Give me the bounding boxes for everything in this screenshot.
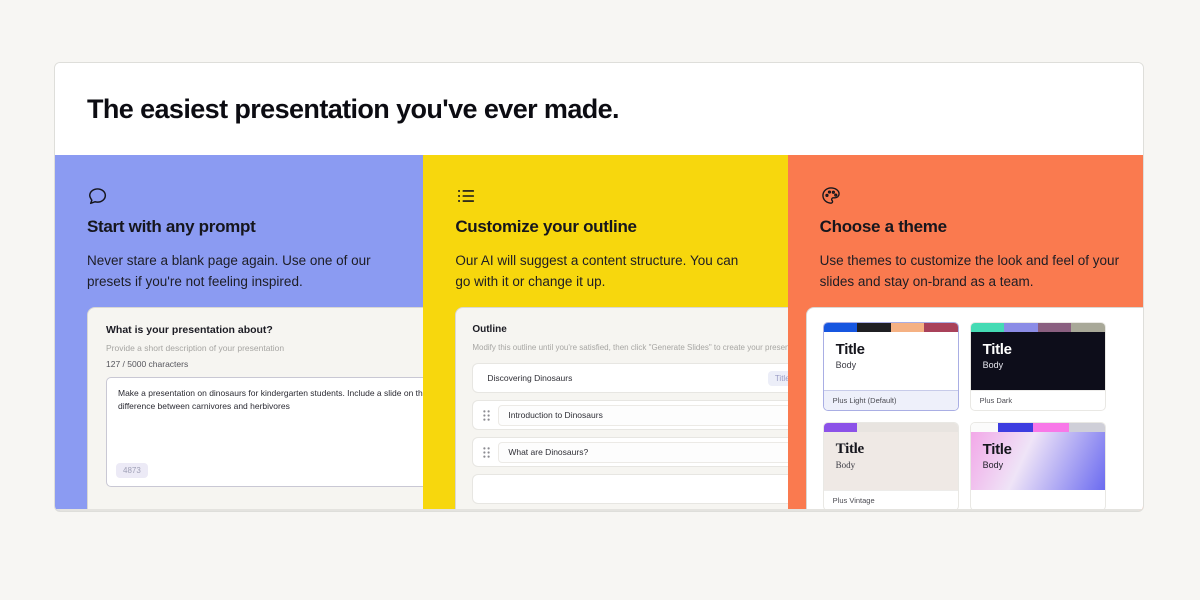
theme-swatch — [824, 323, 858, 332]
theme-preview: TitleBody — [824, 432, 958, 490]
bullet-list-icon — [455, 185, 787, 207]
theme-preview: TitleBody — [971, 332, 1105, 390]
theme-swatch — [924, 423, 958, 432]
prompt-panel-title: What is your presentation about? — [106, 324, 423, 336]
theme-grid: TitleBodyPlus Light (Default)TitleBodyPl… — [807, 308, 1143, 512]
theme-preview-title: Title — [836, 441, 958, 458]
prompt-panel-subtitle: Provide a short description of your pres… — [106, 343, 423, 353]
theme-card-name: Plus Dark — [971, 390, 1105, 410]
prompt-badge: 4873 — [116, 463, 148, 478]
theme-swatch — [1069, 423, 1105, 432]
page-title: The easiest presentation you've ever mad… — [87, 94, 619, 125]
palette-icon — [820, 185, 1143, 207]
theme-preview: TitleBody — [824, 332, 958, 390]
theme-swatch — [857, 323, 891, 332]
prompt-textarea-value: Make a presentation on dinosaurs for kin… — [118, 387, 423, 413]
theme-swatch — [924, 323, 958, 332]
column-description-prompt: Never stare a blank page again. Use one … — [87, 250, 387, 292]
theme-swatch — [824, 423, 858, 432]
theme-card-name: Plus Light (Default) — [824, 390, 958, 410]
theme-swatches — [971, 323, 1105, 332]
speech-bubble-icon — [87, 185, 423, 207]
content-cutoff-edge — [55, 509, 1143, 511]
outline-row-input[interactable]: Introduction to Dinosaurs — [498, 405, 787, 426]
column-title-theme: Choose a theme — [820, 217, 1143, 237]
theme-preview-body: Body — [836, 458, 958, 472]
theme-swatch — [1033, 423, 1069, 432]
feature-column-outline: Customize your outline Our AI will sugge… — [423, 155, 787, 512]
theme-card[interactable]: TitleBody — [970, 422, 1106, 511]
theme-swatch — [1038, 323, 1072, 332]
theme-swatch — [1071, 323, 1105, 332]
theme-preview-title: Title — [983, 441, 1105, 458]
theme-swatches — [824, 323, 958, 332]
theme-card-name: Plus Vintage — [824, 490, 958, 510]
outline-row[interactable]: Introduction to Dinosaurs × — [472, 400, 787, 430]
prompt-textarea[interactable]: Make a presentation on dinosaurs for kin… — [106, 377, 423, 487]
headline-band: The easiest presentation you've ever mad… — [55, 63, 1143, 155]
column-description-outline: Our AI will suggest a content structure.… — [455, 250, 755, 292]
theme-preview-body: Body — [836, 358, 958, 372]
column-title-outline: Customize your outline — [455, 217, 787, 237]
outline-panel-subtitle: Modify this outline until you're satisfi… — [472, 342, 787, 353]
outline-panel: Outline Modify this outline until you're… — [455, 307, 787, 512]
character-counter: 127 / 5000 characters — [106, 359, 423, 369]
theme-preview: TitleBody — [971, 432, 1105, 490]
hero-frame: The easiest presentation you've ever mad… — [54, 62, 1144, 512]
theme-swatch — [857, 423, 891, 432]
theme-card[interactable]: TitleBodyPlus Dark — [970, 322, 1106, 411]
outline-row-input[interactable]: What are Dinosaurs? — [498, 442, 787, 463]
theme-swatch — [891, 323, 925, 332]
drag-handle-icon[interactable] — [480, 447, 492, 458]
theme-swatch — [971, 323, 1005, 332]
page-root: The easiest presentation you've ever mad… — [0, 0, 1200, 600]
theme-preview-title: Title — [983, 341, 1105, 358]
outline-row-label: What are Dinosaurs? — [508, 447, 588, 457]
theme-preview-body: Body — [983, 458, 1105, 472]
theme-preview-title: Title — [836, 341, 958, 358]
feature-column-theme: Choose a theme Use themes to customize t… — [788, 155, 1143, 512]
theme-panel: TitleBodyPlus Light (Default)TitleBodyPl… — [806, 307, 1143, 512]
outline-row[interactable]: What are Dinosaurs? × — [472, 437, 787, 467]
theme-card[interactable]: TitleBodyPlus Vintage — [823, 422, 959, 511]
feature-columns: Start with any prompt Never stare a blan… — [55, 155, 1143, 512]
outline-row-label: Introduction to Dinosaurs — [508, 410, 603, 420]
drag-handle-icon[interactable] — [480, 410, 492, 421]
theme-card[interactable]: TitleBodyPlus Light (Default) — [823, 322, 959, 411]
column-description-theme: Use themes to customize the look and fee… — [820, 250, 1120, 292]
theme-swatch — [998, 423, 1034, 432]
title-slide-badge: Title slide — [768, 371, 788, 386]
column-title-prompt: Start with any prompt — [87, 217, 423, 237]
theme-swatch — [1004, 323, 1038, 332]
theme-swatches — [824, 423, 958, 432]
prompt-panel: What is your presentation about? Provide… — [87, 307, 423, 512]
outline-panel-title: Outline — [472, 324, 787, 335]
outline-title-slide-label: Discovering Dinosaurs — [487, 373, 572, 383]
feature-column-prompt: Start with any prompt Never stare a blan… — [55, 155, 423, 512]
theme-preview-body: Body — [983, 358, 1105, 372]
outline-title-slide-row[interactable]: Discovering Dinosaurs Title slide — [472, 363, 787, 393]
outline-row-partial[interactable] — [472, 474, 787, 504]
theme-swatches — [971, 423, 1105, 432]
theme-swatch — [891, 423, 925, 432]
